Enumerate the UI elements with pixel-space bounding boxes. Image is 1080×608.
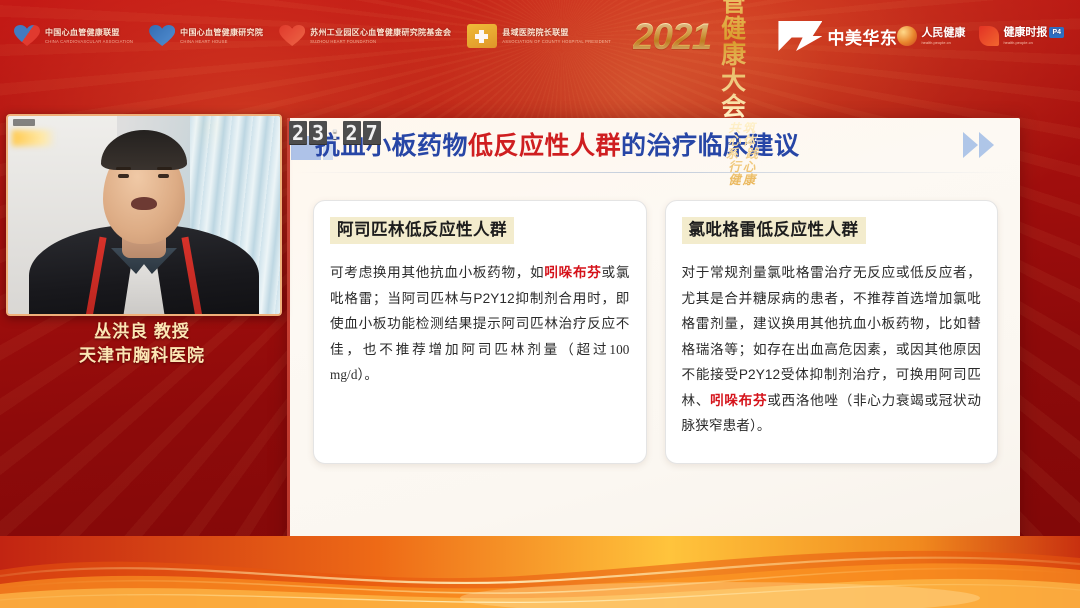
slide-left-edge [287, 118, 290, 562]
card-body: 可考虑换用其他抗血小板药物，如吲哚布芬或氯吡格雷；当阿司匹林与P2Y12抑制剂合… [330, 260, 630, 388]
logo-text: 中国心血管健康联盟 CHINA CARDIOVASCULAR ASSOCIATI… [45, 29, 133, 44]
speaker-brow-left [116, 167, 131, 170]
logo-name-en: ASSOCIATION OF COUNTY HOSPITAL PRESIDENT [502, 39, 611, 44]
conference-year: 2021 [633, 18, 711, 55]
body-run: 可考虑换用其他抗血小板药物，如 [330, 265, 544, 280]
health-times-icon [979, 26, 999, 46]
card-aspirin-low-response: 阿司匹林低反应性人群 可考虑换用其他抗血小板药物，如吲哚布芬或氯吡格雷；当阿司匹… [313, 200, 647, 464]
speaker-name: 丛洪良 教授 [6, 320, 278, 344]
logo-name-cn: 县域医院院长联盟 [502, 29, 611, 37]
body-run: ）。 [358, 367, 379, 382]
card-clopidogrel-low-response: 氯吡格雷低反应性人群 对于常规剂量氯吡格雷治疗无反应或低反应者，尤其是合并糖尿病… [665, 200, 999, 464]
timestamp-digit: 3 [309, 121, 327, 145]
sponsor-name: 中美华东 [827, 24, 897, 49]
logo-name-cn: 中国心血管健康联盟 [45, 29, 133, 37]
timestamp-digit: 7 [363, 121, 381, 145]
logo-name-en: health.people.cn [921, 40, 965, 45]
speaker-panel: 丛洪良 教授 天津市胸科医院 [6, 114, 284, 401]
partner-logos-right: 人民健康 health.people.cn 健康时报P4 health.peop… [897, 26, 1080, 46]
logo-chip: P4 [1049, 27, 1064, 38]
speaker-caption: 丛洪良 教授 天津市胸科医院 [6, 320, 278, 368]
video-scene [8, 116, 280, 314]
heart-blue-icon [149, 25, 175, 47]
logo-name-en: health.people.cn [1003, 40, 1064, 45]
speaker-organization: 天津市胸科医院 [6, 344, 278, 368]
logo-text: 苏州工业园区心血管健康研究院基金会 SUZHOU HEART FOUNDATIO… [310, 29, 451, 44]
speaker-eye-left [118, 174, 129, 178]
logo-text: 县域医院院长联盟 ASSOCIATION OF COUNTY HOSPITAL … [502, 29, 611, 44]
conference-title: 中国心血管健康大会 [721, 0, 764, 120]
timestamp-digit: 2 [343, 121, 361, 145]
logo-people-health: 人民健康 health.people.cn [897, 26, 965, 46]
logo-text: 中国心血管健康研究院 CHINA HEART HOUSE [180, 29, 263, 44]
logo-heart-foundation: 苏州工业园区心血管健康研究院基金会 SUZHOU HEART FOUNDATIO… [279, 25, 451, 47]
body-run: 对于常规剂量氯吡格雷治疗无反应或低反应者，尤其是合并糖尿病的患者，不推荐首选增加… [682, 265, 982, 408]
logo-name-en: CHINA HEART HOUSE [180, 39, 263, 44]
logo-text: 人民健康 health.people.cn [921, 28, 965, 45]
timestamp-overlay: 2 3 : 2 7 [289, 121, 381, 145]
heart-red-icon [279, 25, 305, 47]
body-run-highlight: 吲哚布芬 [710, 393, 767, 408]
conference-subtitle: 共筑心体系 践行心健康 [721, 122, 764, 187]
speaker-brow-right [157, 167, 172, 170]
logo-name-cn: 健康时报P4 [1003, 27, 1064, 38]
logo-name-cn: 苏州工业园区心血管健康研究院基金会 [310, 29, 451, 37]
timestamp-digit: 2 [289, 121, 307, 145]
logo-name-cn: 人民健康 [921, 28, 965, 39]
logo-cardiovascular-alliance: 中国心血管健康联盟 CHINA CARDIOVASCULAR ASSOCIATI… [14, 25, 133, 47]
broadcast-stage: 中国心血管健康联盟 CHINA CARDIOVASCULAR ASSOCIATI… [0, 0, 1080, 608]
double-chevron-right-icon [963, 132, 994, 158]
partner-logos-left: 中国心血管健康联盟 CHINA CARDIOVASCULAR ASSOCIATI… [0, 24, 611, 48]
camera-overlay-badge [13, 119, 35, 126]
logo-text: 健康时报P4 health.people.cn [1003, 27, 1064, 44]
recommendation-cards: 阿司匹林低反应性人群 可考虑换用其他抗血小板药物，如吲哚布芬或氯吡格雷；当阿司匹… [313, 200, 998, 464]
ceiling-light [12, 130, 56, 146]
speaker-mouth [131, 197, 157, 210]
logo-name-en: SUZHOU HEART FOUNDATION [310, 39, 451, 44]
card-heading: 阿司匹林低反应性人群 [330, 217, 514, 244]
heart-handshake-icon [14, 25, 40, 47]
timestamp-separator: : [329, 122, 340, 144]
sponsor-logo-icon [778, 21, 822, 51]
slide-title-part-2: 低反应性人群 [468, 132, 621, 160]
conference-name-block: 中国心血管健康大会 共筑心体系 践行心健康 [721, 0, 764, 187]
card-heading: 氯吡格雷低反应性人群 [682, 217, 866, 244]
speaker-figure [19, 170, 269, 316]
speaker-eye-right [158, 174, 169, 178]
logo-name-cn: 中国心血管健康研究院 [180, 29, 263, 37]
logo-health-times: 健康时报P4 health.people.cn [979, 26, 1064, 46]
conference-lockup: 2021 中国心血管健康大会 共筑心体系 践行心健康 中美华东 [633, 0, 898, 187]
logo-name-en: CHINA CARDIOVASCULAR ASSOCIATION [45, 39, 133, 44]
sponsor-lockup: 中美华东 [778, 21, 897, 51]
body-run-highlight: 吲哚布芬 [544, 265, 601, 280]
top-banner: 中国心血管健康联盟 CHINA CARDIOVASCULAR ASSOCIATI… [0, 0, 1080, 72]
logo-heart-house: 中国心血管健康研究院 CHINA HEART HOUSE [149, 25, 263, 47]
card-body: 对于常规剂量氯吡格雷治疗无反应或低反应者，尤其是合并糖尿病的患者，不推荐首选增加… [682, 260, 982, 439]
medical-cross-icon [467, 24, 497, 48]
people-health-icon [897, 26, 917, 46]
logo-county-hospital-president: 县域医院院长联盟 ASSOCIATION OF COUNTY HOSPITAL … [467, 24, 611, 48]
speaker-video-feed[interactable] [6, 114, 282, 316]
